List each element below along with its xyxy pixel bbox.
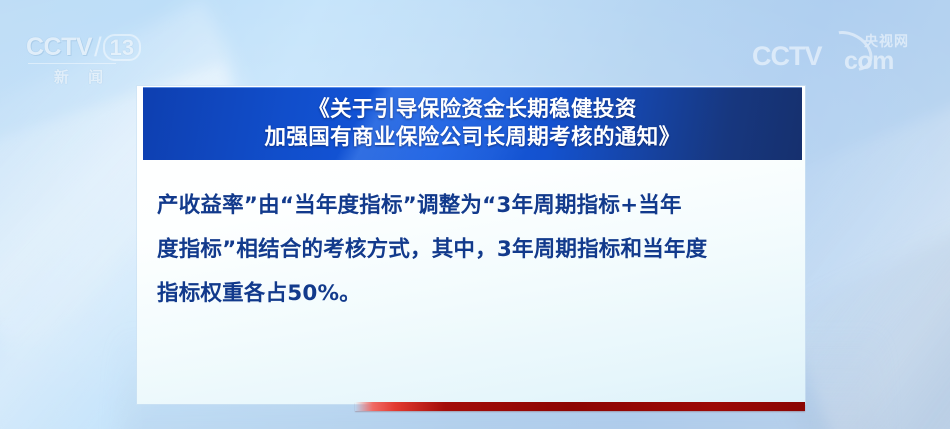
broadcast-screen: CCTV / 13 新 闻 CCTV 央视网 com 《关于引导保险资金长期稳健…: [0, 0, 950, 429]
cctv13-logo-row: CCTV / 13: [26, 32, 158, 62]
document-title: 《关于引导保险资金长期稳健投资 加强国有商业保险公司长周期考核的通知》: [264, 96, 680, 152]
watermark-brand-text: CCTV: [752, 41, 822, 72]
cctv13-channel-number: 13: [103, 34, 141, 61]
cctv13-divider-rule: [28, 63, 116, 64]
cctv13-brand-text: CCTV: [26, 32, 92, 62]
cctv13-channel-logo: CCTV / 13 新 闻: [26, 32, 158, 82]
cctv-com-watermark: CCTV 央视网 com: [752, 33, 928, 79]
content-panel: 《关于引导保险资金长期稳健投资 加强国有商业保险公司长周期考核的通知》 产收益率…: [137, 86, 805, 404]
cctv13-slash-icon: /: [94, 32, 102, 62]
red-accent-bar: [355, 402, 805, 411]
watermark-com-text: com: [844, 47, 894, 76]
title-banner: 《关于引导保险资金长期稳健投资 加强国有商业保险公司长周期考核的通知》: [143, 87, 802, 160]
cctv13-channel-label: 新 闻: [32, 66, 132, 87]
document-body-text: 产收益率”由“当年度指标”调整为“3年周期指标+当年 度指标”相结合的考核方式，…: [157, 184, 785, 316]
